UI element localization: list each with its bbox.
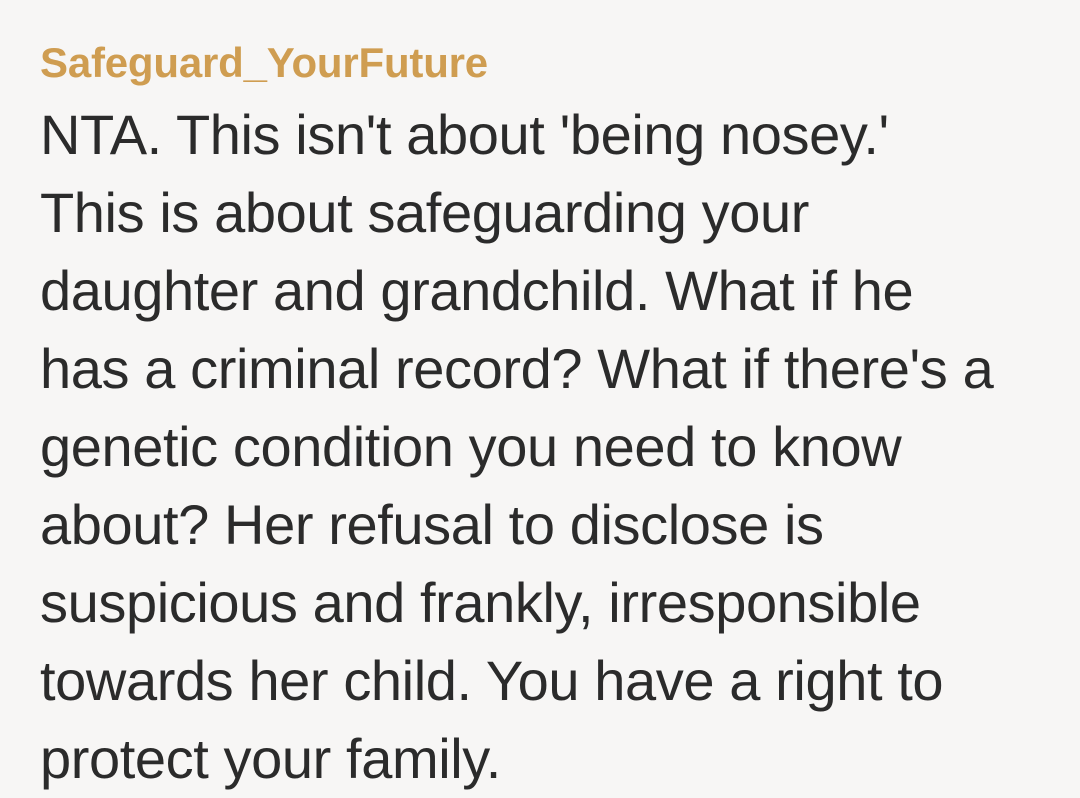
comment-card: Safeguard_YourFuture NTA. This isn't abo… (0, 0, 1080, 782)
comment-body-text: NTA. This isn't about 'being nosey.' Thi… (40, 96, 995, 798)
comment-author-username[interactable]: Safeguard_YourFuture (40, 38, 1025, 88)
